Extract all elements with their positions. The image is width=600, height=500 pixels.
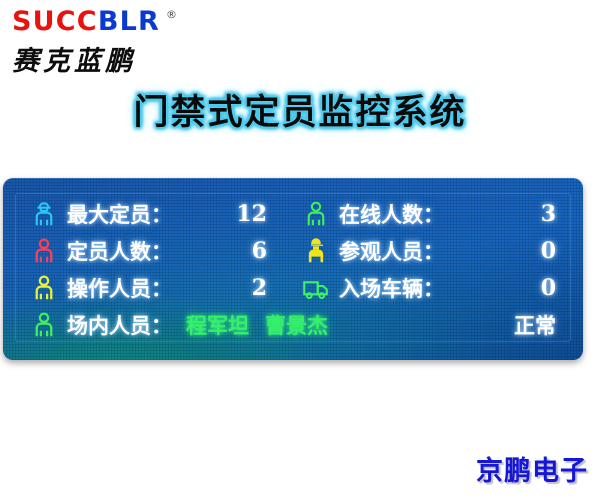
company-logo: SUCCBLR ® 赛克蓝鹏	[8, 6, 258, 76]
led-label: 参观人员：	[339, 236, 444, 266]
led-field-visitor-count: 参观人员： 0	[293, 236, 579, 266]
person-visitor-icon	[301, 236, 331, 266]
led-label: 场内人员：	[67, 310, 172, 340]
led-display-panel: 最大定员： 12 在线人数： 3	[3, 178, 583, 360]
led-field-onsite-personnel: 场内人员： 程军坦 曹景杰 正常	[3, 310, 579, 340]
registered-trademark-icon: ®	[166, 8, 177, 21]
person-outline-icon	[301, 199, 331, 229]
person-outline-icon	[29, 310, 59, 340]
led-row: 最大定员： 12 在线人数： 3	[3, 195, 583, 232]
logo-wordmark-secondary: BLR	[98, 6, 160, 37]
status-badge: 正常	[514, 310, 556, 340]
onsite-names-list: 程军坦 曹景杰	[186, 310, 328, 340]
logo-wordmark-primary: SUCC	[12, 6, 98, 37]
led-value: 12	[236, 201, 267, 227]
page-title: 门禁式定员监控系统	[0, 84, 600, 135]
truck-icon	[301, 273, 331, 303]
led-field-max-capacity: 最大定员： 12	[3, 199, 293, 229]
led-value: 3	[541, 201, 556, 227]
led-value: 0	[541, 238, 556, 264]
led-label: 定员人数：	[67, 236, 172, 266]
person-outline-icon	[29, 273, 59, 303]
led-field-vehicle-count: 入场车辆： 0	[293, 273, 579, 303]
logo-company-name-cn: 赛克蓝鹏	[12, 39, 136, 78]
led-label: 最大定员：	[67, 199, 172, 229]
person-outline-icon	[29, 236, 59, 266]
led-label: 入场车辆：	[339, 273, 444, 303]
led-row: 定员人数： 6 参观人员： 0	[3, 232, 583, 269]
led-data-rows: 最大定员： 12 在线人数： 3	[3, 195, 583, 343]
led-value: 0	[541, 275, 556, 301]
led-label: 在线人数：	[339, 199, 444, 229]
led-field-assigned-count: 定员人数： 6	[3, 236, 293, 266]
led-field-operator-count: 操作人员： 2	[3, 273, 293, 303]
list-item: 曹景杰	[265, 310, 328, 340]
logo-wordmark: SUCCBLR	[12, 8, 160, 35]
led-row: 场内人员： 程军坦 曹景杰 正常	[3, 306, 583, 343]
led-row: 操作人员： 2 入场车辆： 0	[3, 269, 583, 306]
led-field-online-count: 在线人数： 3	[293, 199, 579, 229]
list-item: 程军坦	[186, 310, 249, 340]
footer-brand-name: 京鹏电子	[476, 449, 588, 488]
led-value: 6	[252, 238, 267, 264]
led-label: 操作人员：	[67, 273, 172, 303]
led-value: 2	[252, 275, 267, 301]
person-helmet-icon	[29, 199, 59, 229]
